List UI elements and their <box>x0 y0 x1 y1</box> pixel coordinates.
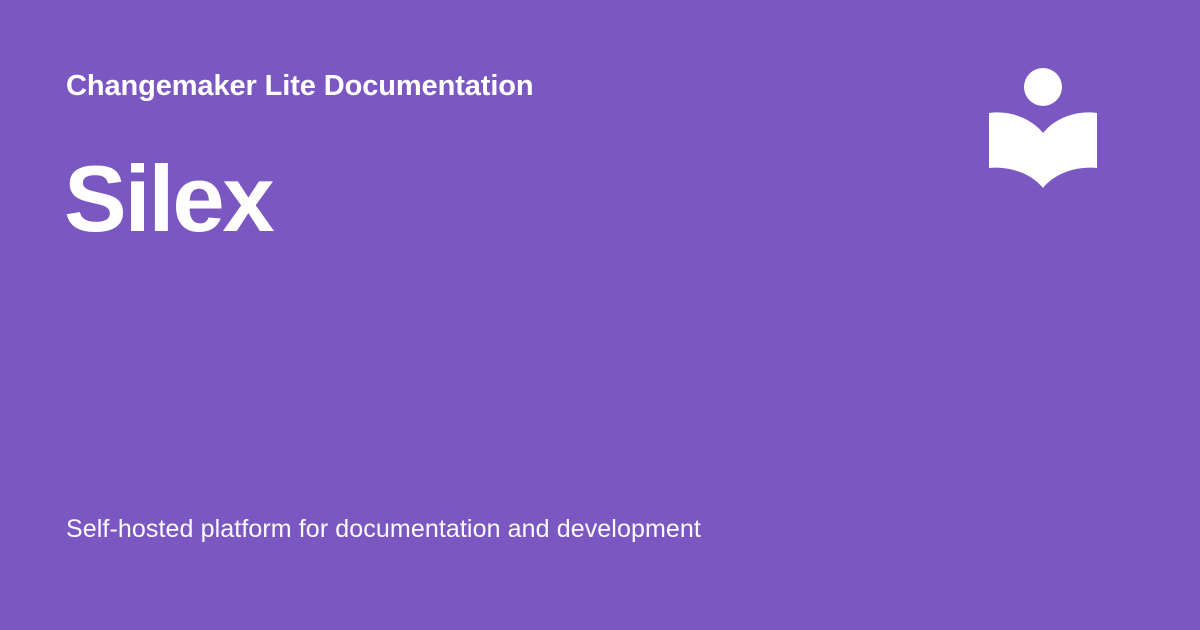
site-title: Changemaker Lite Documentation <box>66 70 534 103</box>
open-book-reader-icon <box>983 60 1103 196</box>
og-preview-card: Changemaker Lite Documentation Silex Sel… <box>0 0 1200 630</box>
page-subtitle: Self-hosted platform for documentation a… <box>66 513 701 546</box>
page-title: Silex <box>64 152 273 246</box>
